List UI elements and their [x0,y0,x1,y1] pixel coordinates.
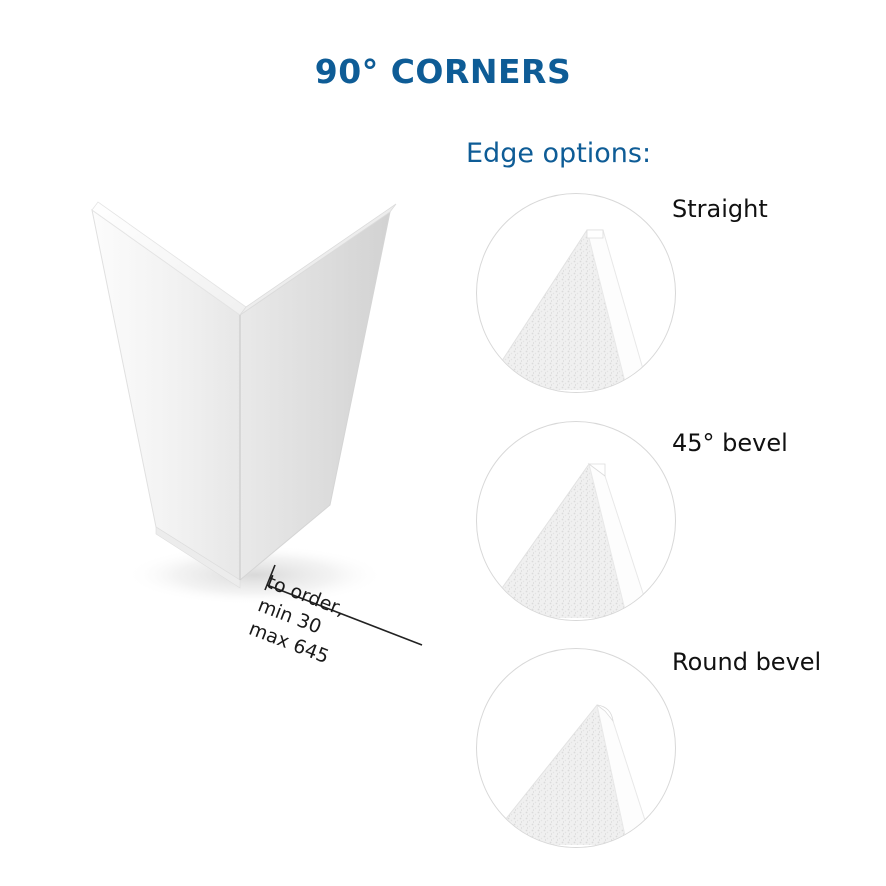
edge-option-label-bevel45: 45° bevel [672,429,788,457]
bevel-45-edge-icon [476,421,676,621]
edge-option-label-round-bevel: Round bevel [672,648,821,676]
edge-options-heading: Edge options: [466,138,651,169]
edge-option-bevel45[interactable]: 45° bevel [476,421,686,631]
edge-option-round-bevel[interactable]: Round bevel [476,648,686,858]
page-title: 90° CORNERS [0,52,886,91]
edge-option-straight[interactable]: Straight [476,193,686,403]
edge-option-label-straight: Straight [672,195,768,223]
straight-base [483,390,627,392]
round-bevel-base [485,845,627,847]
bevel45-base [481,618,627,620]
round-bevel-edge-icon [476,648,676,848]
straight-tip [587,230,603,238]
straight-edge-icon [476,193,676,393]
